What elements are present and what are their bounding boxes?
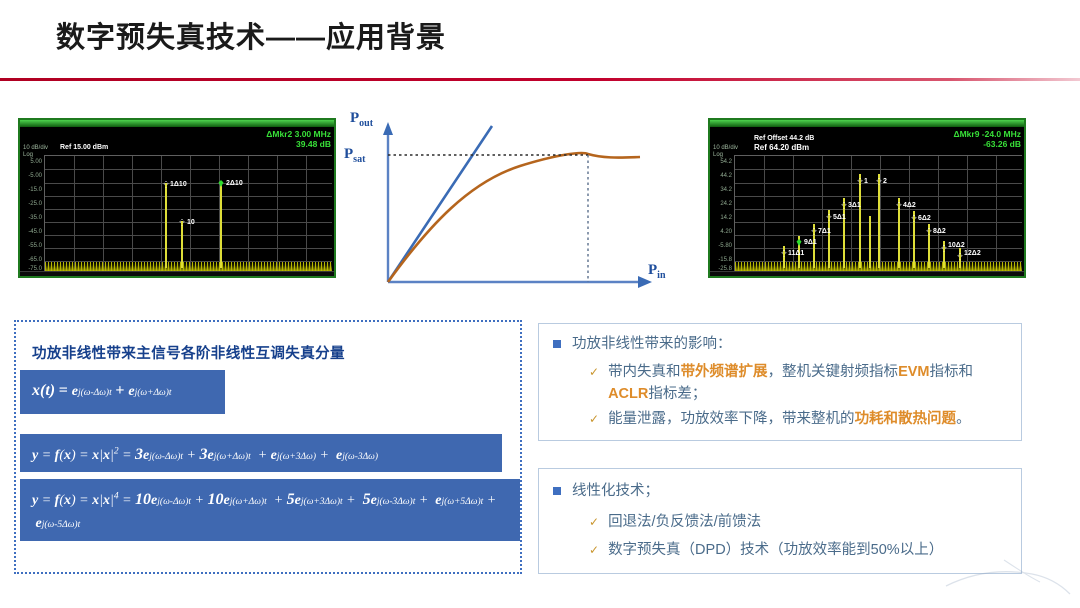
- page-title: 数字预失真技术——应用背景: [56, 14, 446, 56]
- spectrum-left-marker-delta: ΔMkr2 3.00 MHz: [266, 129, 331, 139]
- y-tick: -5.80: [710, 243, 732, 249]
- spectrum-analyzer-input: 10 dB/div Log Ref 15.00 dBm ΔMkr2 3.00 M…: [18, 118, 336, 278]
- formula-panel: 功放非线性带来主信号各阶非线性互调失真分量 x(t) = ej(ω-Δω)t +…: [14, 320, 522, 574]
- formula-fifth-order: y = f(x) = x|x|4 = 10ej(ω-Δω)t + 10ej(ω+…: [20, 479, 520, 541]
- linearization-item-1-text: 回退法/负反馈法/前馈法: [608, 512, 761, 534]
- spectrum-right-marker-value: -63.26 dB: [983, 139, 1021, 149]
- marker-label: 12Δ2: [964, 250, 981, 257]
- y-tick: -45.0: [20, 229, 42, 235]
- am-am-transfer-chart: Pout Psat Pin: [340, 104, 692, 294]
- transfer-curve-svg: [340, 104, 692, 294]
- y-tick: 34.2: [710, 187, 732, 193]
- impact-infobox: 功放非线性带来的影响： ✓ 带内失真和带外频谱扩展，整机关键射频指标EVM指标和…: [538, 323, 1022, 441]
- marker-label: 1: [864, 178, 868, 185]
- spectrum-peak: [943, 241, 945, 268]
- marker-label: 7Δ1: [818, 228, 831, 235]
- spectrum-left-scale-label: Log: [23, 152, 33, 158]
- spectrum-peak: [878, 174, 880, 268]
- x-axis-label: Pin: [648, 262, 666, 281]
- spectrum-peak: [859, 174, 861, 268]
- spectrum-peak: [869, 216, 871, 268]
- y-tick: -15.8: [710, 257, 732, 263]
- check-icon: ✓: [589, 543, 599, 557]
- impact-item-2: ✓ 能量泄露，功放效率下降，带来整机的功耗和散热问题。: [589, 409, 1019, 431]
- marker-label: 4Δ2: [903, 202, 916, 209]
- spectrum-right-marker-delta: ΔMkr9 -24.0 MHz: [953, 129, 1021, 139]
- spectrum-analyzer-output: 10 dB/div Log Ref Offset 44.2 dB Ref 64.…: [708, 118, 1026, 278]
- saturation-power-label: Psat: [344, 146, 365, 165]
- spectrum-right-ref-offset-label: Ref Offset 44.2 dB: [754, 134, 814, 143]
- linearization-heading: 线性化技术；: [572, 481, 659, 502]
- spectrum-right-div-label: 10 dB/div: [713, 145, 738, 151]
- y-tick: -55.0: [20, 243, 42, 249]
- impact-heading: 功放非线性带来的影响：: [572, 334, 732, 355]
- spectrum-top-bar: [20, 120, 334, 127]
- check-icon: ✓: [589, 412, 599, 426]
- linearization-item-2-text: 数字预失真（DPD）技术（功放效率能到50%以上）: [608, 540, 943, 562]
- linearization-item-1: ✓ 回退法/负反馈法/前馈法: [589, 512, 761, 534]
- y-tick: -25.0: [20, 201, 42, 207]
- marker-label: 2: [883, 178, 887, 185]
- impact-item-2-text: 能量泄露，功放效率下降，带来整机的功耗和散热问题。: [608, 409, 971, 431]
- spectrum-peak: [220, 182, 222, 268]
- spectrum-footer-bar: [20, 271, 334, 276]
- linearization-infobox: 线性化技术； ✓ 回退法/负反馈法/前馈法 ✓ 数字预失真（DPD）技术（功放效…: [538, 468, 1022, 574]
- marker-label: 5Δ1: [833, 214, 846, 221]
- y-tick: -35.0: [20, 215, 42, 221]
- spectrum-left-marker-value: 39.48 dB: [296, 139, 331, 149]
- y-tick: 24.2: [710, 201, 732, 207]
- spectrum-grid: 1Δ10 2Δ10 10: [44, 155, 332, 272]
- y-tick: -15.0: [20, 187, 42, 193]
- y-tick: -65.0: [20, 257, 42, 263]
- spectrum-top-bar: [710, 120, 1024, 127]
- linearization-item-2: ✓ 数字预失真（DPD）技术（功放效率能到50%以上）: [589, 540, 943, 562]
- check-icon: ✓: [589, 365, 599, 379]
- linearization-heading-row: 线性化技术；: [553, 481, 659, 502]
- y-tick: -5.00: [20, 173, 42, 179]
- spectrum-left-div-label: 10 dB/div: [23, 145, 48, 151]
- y-tick: 14.2: [710, 215, 732, 221]
- marker-label: 8Δ2: [933, 228, 946, 235]
- marker-label: 6Δ2: [918, 215, 931, 222]
- spectrum-right-ref-label: Ref 64.20 dBm: [754, 143, 809, 152]
- marker-label: 11Δ1: [788, 250, 804, 257]
- square-bullet-icon: [553, 487, 561, 495]
- spectrum-right-scale-label: Log: [713, 152, 723, 158]
- marker-label: 10Δ2: [948, 242, 965, 249]
- y-tick: 5.00: [20, 159, 42, 165]
- spectrum-peak: [783, 246, 785, 268]
- impact-heading-row: 功放非线性带来的影响：: [553, 334, 732, 355]
- y-tick: 54.2: [710, 159, 732, 165]
- check-icon: ✓: [589, 515, 599, 529]
- y-tick: 4.20: [710, 229, 732, 235]
- spectrum-footer-bar: [710, 271, 1024, 276]
- marker-label: 10: [187, 219, 195, 226]
- formula-third-order: y = f(x) = x|x|2 = 3ej(ω-Δω)t + 3ej(ω+Δω…: [20, 434, 502, 472]
- impact-item-1-text: 带内失真和带外频谱扩展，整机关键射频指标EVM指标和 ACLR指标差；: [608, 362, 973, 406]
- y-axis-label: Pout: [350, 110, 373, 129]
- marker-label: 9Δ1: [804, 239, 817, 246]
- marker-label: 3Δ1: [848, 202, 861, 209]
- spectrum-noise-floor: [45, 262, 332, 271]
- square-bullet-icon: [553, 340, 561, 348]
- spectrum-peak: [181, 221, 183, 268]
- spectrum-grid: 11Δ1 9Δ1 7Δ1 5Δ1 3Δ1 1 2 4Δ2 6Δ2 8Δ2 10Δ…: [734, 155, 1022, 272]
- formula-input-signal: x(t) = ej(ω-Δω)t + ej(ω+Δω)t: [20, 370, 225, 414]
- marker-label: 2Δ10: [226, 180, 243, 187]
- spectrum-left-ref-label: Ref 15.00 dBm: [60, 143, 108, 152]
- title-divider: [0, 78, 1080, 81]
- impact-item-1: ✓ 带内失真和带外频谱扩展，整机关键射频指标EVM指标和 ACLR指标差；: [589, 362, 1009, 406]
- spectrum-peak: [165, 183, 167, 268]
- marker-label: 1Δ10: [170, 181, 187, 188]
- y-tick: 44.2: [710, 173, 732, 179]
- formula-panel-heading: 功放非线性带来主信号各阶非线性互调失真分量: [32, 342, 345, 363]
